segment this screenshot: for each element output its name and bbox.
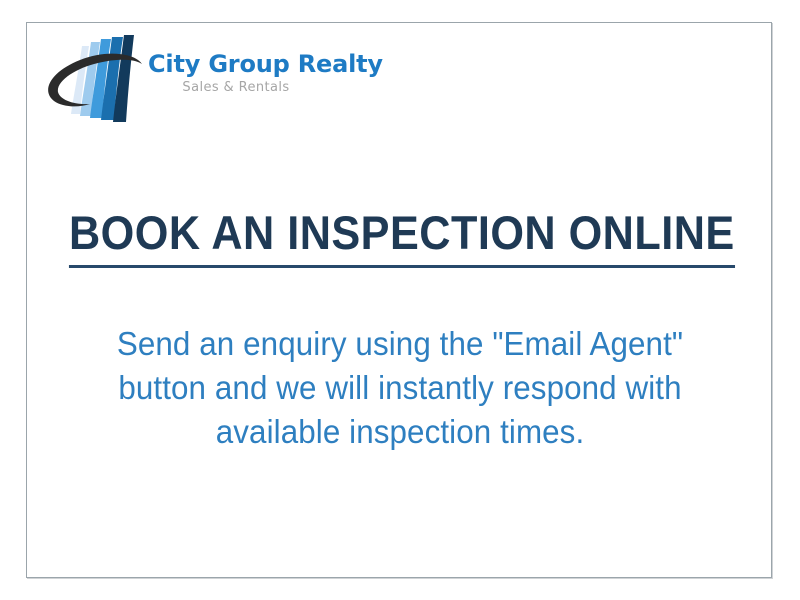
body-paragraph: Send an enquiry using the "Email Agent" … [60, 322, 740, 455]
brand-company-name: City Group Realty [148, 52, 348, 77]
slide: City Group Realty Sales & Rentals BOOK A… [0, 0, 800, 600]
body-line-3: available inspection times. [77, 410, 723, 454]
brand-tagline: Sales & Rentals [148, 80, 324, 95]
brand-logo: City Group Realty Sales & Rentals [38, 30, 338, 130]
city-group-realty-logo-mark [38, 30, 146, 130]
body-line-1: Send an enquiry using the "Email Agent" [77, 322, 723, 366]
body-line-2: button and we will instantly respond wit… [77, 366, 723, 410]
page-title-text: BOOK AN INSPECTION ONLINE [69, 208, 735, 268]
brand-wordmark: City Group Realty Sales & Rentals [148, 52, 348, 95]
page-title: BOOK AN INSPECTION ONLINE [40, 208, 760, 268]
